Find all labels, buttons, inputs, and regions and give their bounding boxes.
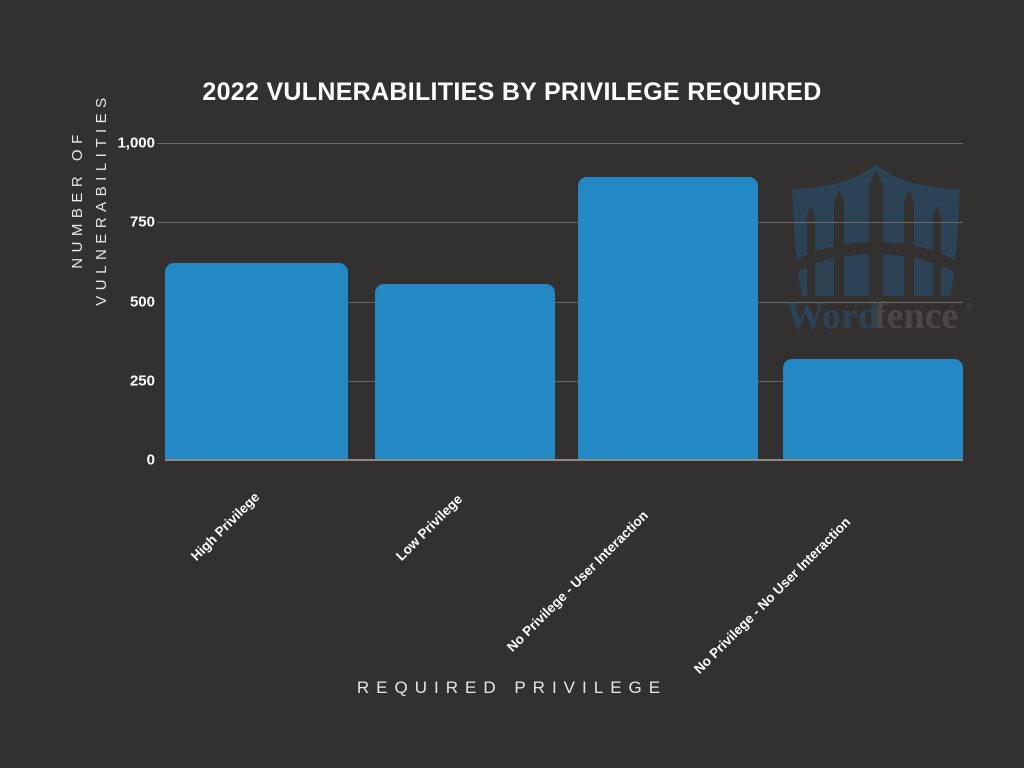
bar-low-privilege[interactable] [375,284,555,460]
y-axis-ticks: 1,000 750 500 250 0 [95,143,155,460]
y-tickmark-750 [157,222,165,223]
y-tick-label-1000: 1,000 [95,135,155,152]
x-axis-line [165,459,963,461]
bar-chart: 2022 VULNERABILITIES BY PRIVILEGE REQUIR… [0,0,1024,768]
x-axis-title: REQUIRED PRIVILEGE [0,678,1024,698]
x-label-high-privilege: High Privilege [188,489,262,563]
y-tick-label-0: 0 [95,452,155,469]
x-label-no-privilege-user-interaction: No Privilege - User Interaction [504,508,651,655]
bar-no-privilege-no-user-interaction[interactable] [783,359,963,460]
bar-no-privilege-user-interaction[interactable] [578,177,758,460]
y-tickmark-1000 [157,143,165,144]
plot-area [165,143,963,460]
gridline-750 [165,222,963,223]
x-label-no-privilege-no-user-interaction: No Privilege - No User Interaction [691,514,853,676]
y-axis-title-line-1: NUMBER OF [66,129,90,269]
gridline-1000 [165,143,963,144]
y-tick-label-500: 500 [95,293,155,310]
bar-high-privilege[interactable] [165,263,348,460]
svg-text:®: ® [966,302,973,312]
x-label-low-privilege: Low Privilege [393,491,465,563]
y-tick-label-750: 750 [95,214,155,231]
y-tick-label-250: 250 [95,372,155,389]
chart-title: 2022 VULNERABILITIES BY PRIVILEGE REQUIR… [0,78,1024,107]
